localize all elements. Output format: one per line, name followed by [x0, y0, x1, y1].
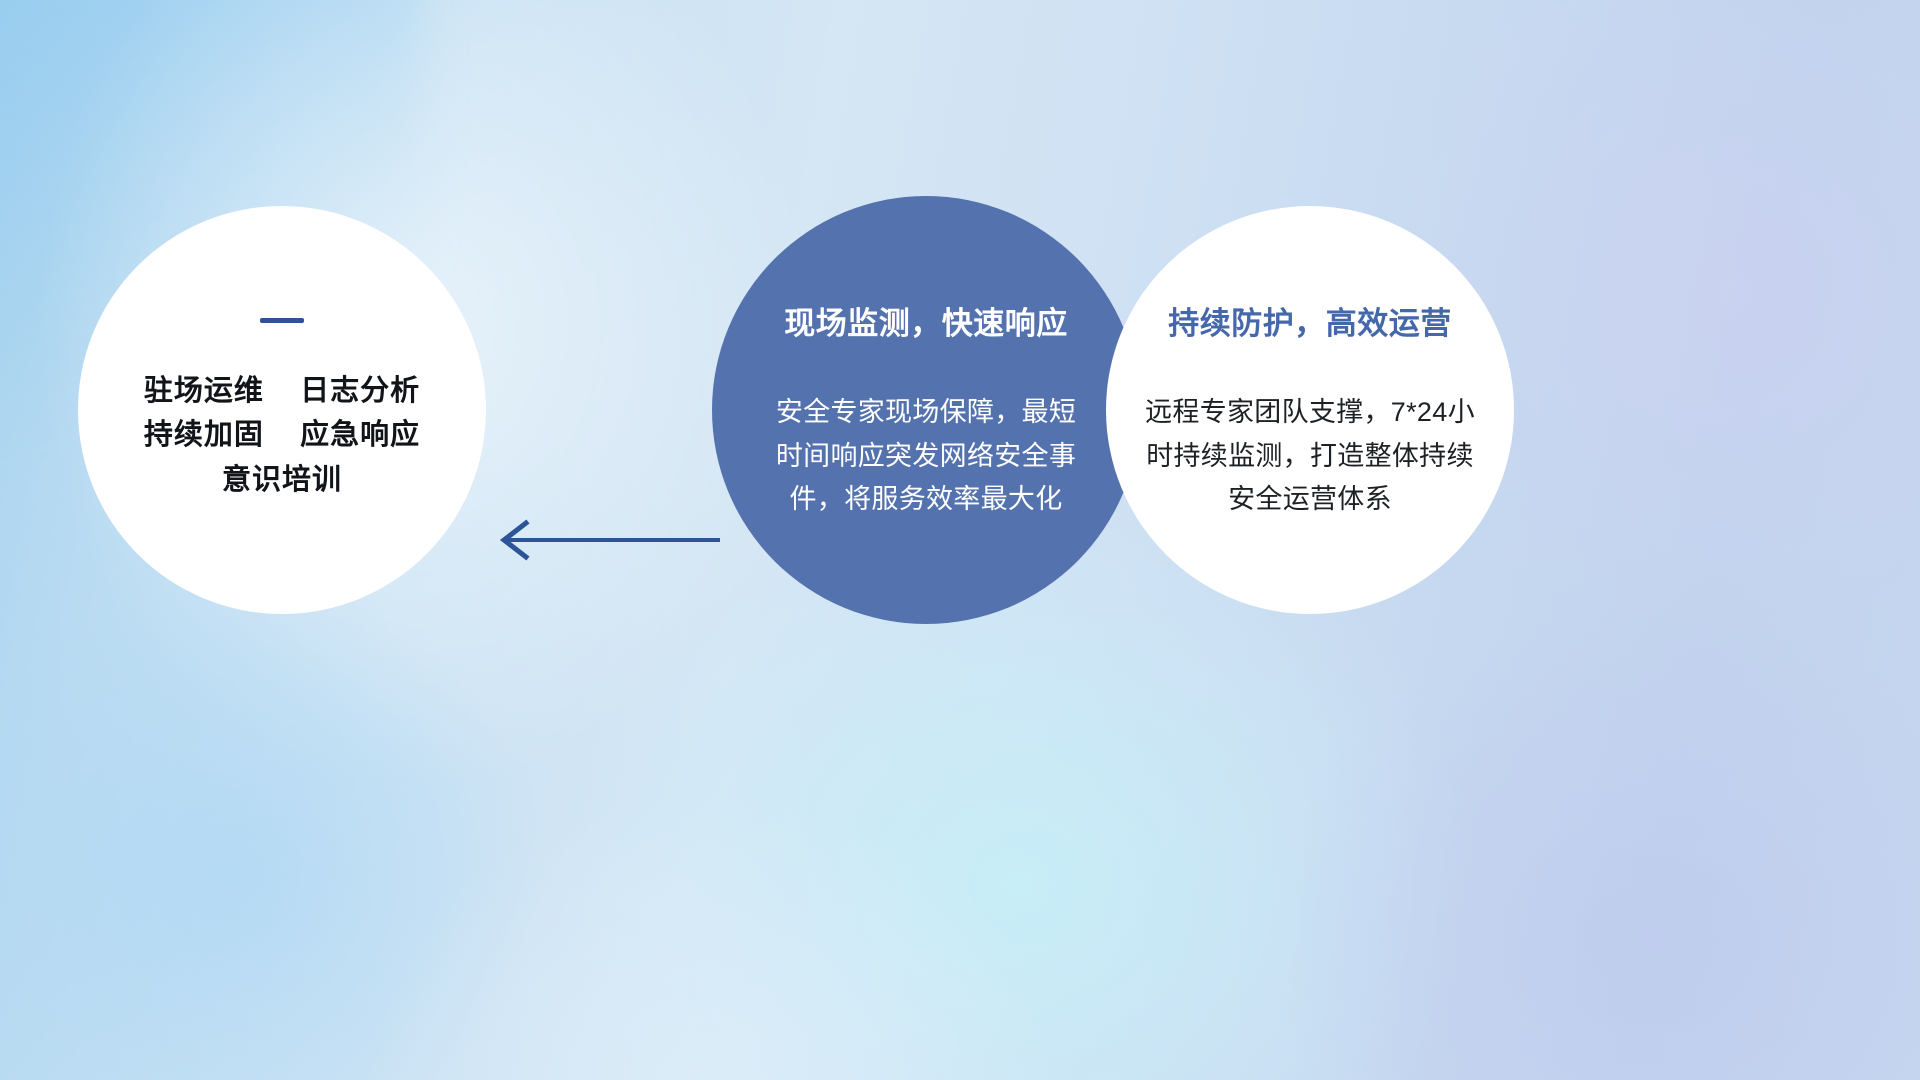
middle-onsite-circle[interactable]: 现场监测，快速响应 安全专家现场保障，最短时间响应突发网络安全事件，将服务效率最…	[712, 196, 1140, 624]
middle-circle-body: 安全专家现场保障，最短时间响应突发网络安全事件，将服务效率最大化	[771, 391, 1081, 522]
connector-arrow	[482, 510, 722, 570]
right-circle-body: 远程专家团队支撑，7*24小时持续监测，打造整体持续安全运营体系	[1145, 391, 1475, 522]
slide-canvas: 驻场运维 日志分析 持续加固 应急响应 意识培训 现场监测，快速响应 安全专家现…	[0, 0, 1920, 1080]
arrow-left-icon	[482, 510, 722, 570]
right-circle-title: 持续防护，高效运营	[1168, 298, 1452, 343]
background-glow-bottom	[269, 713, 1152, 1080]
keyword-line-3: 意识培训	[222, 458, 342, 502]
keyword-line-1: 驻场运维 日志分析	[144, 369, 420, 413]
middle-circle-title: 现场监测，快速响应	[784, 298, 1068, 343]
left-keyword-circle[interactable]: 驻场运维 日志分析 持续加固 应急响应 意识培训	[78, 206, 486, 614]
right-operations-circle[interactable]: 持续防护，高效运营 远程专家团队支撑，7*24小时持续监测，打造整体持续安全运营…	[1106, 206, 1514, 614]
keyword-line-2: 持续加固 应急响应	[144, 413, 420, 457]
divider-dash	[260, 318, 304, 323]
